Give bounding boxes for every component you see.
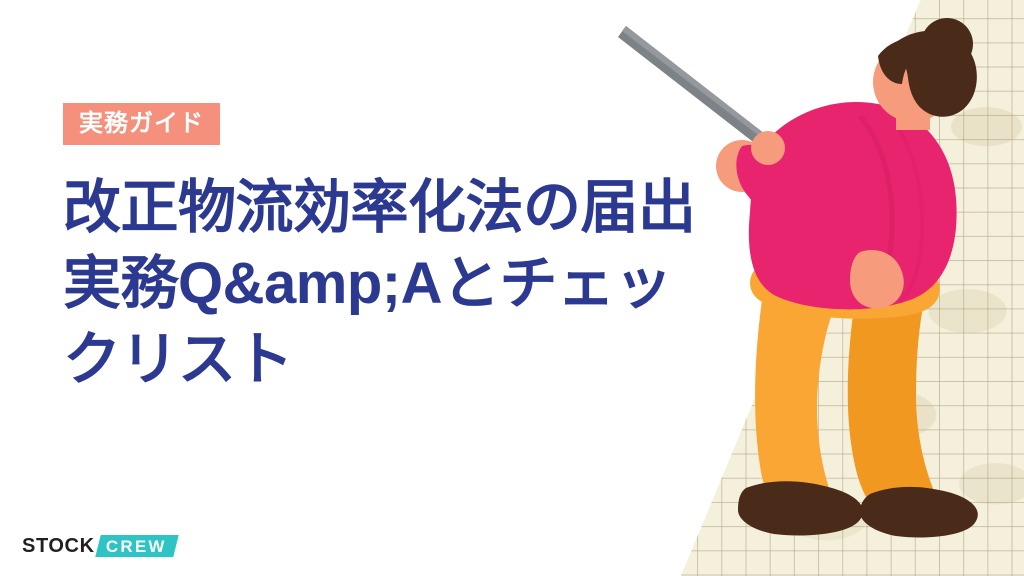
shoe-back <box>860 487 978 538</box>
logo-stock-text: STOCK <box>22 536 95 556</box>
category-badge: 実務ガイド <box>63 103 220 145</box>
page-title: 改正物流効率化法の届出実務Q&amp;Aとチェックリスト <box>63 170 709 398</box>
thumbnail-canvas: 実務ガイド 改正物流効率化法の届出実務Q&amp;Aとチェックリスト STOCK… <box>0 0 1024 576</box>
shoe-front <box>738 481 863 535</box>
hair-bun <box>921 18 973 70</box>
text-content: 実務ガイド 改正物流効率化法の届出実務Q&amp;Aとチェックリスト <box>63 0 723 576</box>
leg-back <box>848 292 944 520</box>
logo-crew-text: CREW <box>106 538 167 555</box>
stock-crew-logo[interactable]: STOCK CREW <box>22 534 175 558</box>
hand-thumb <box>751 131 785 165</box>
logo-crew-badge: CREW <box>95 535 178 557</box>
